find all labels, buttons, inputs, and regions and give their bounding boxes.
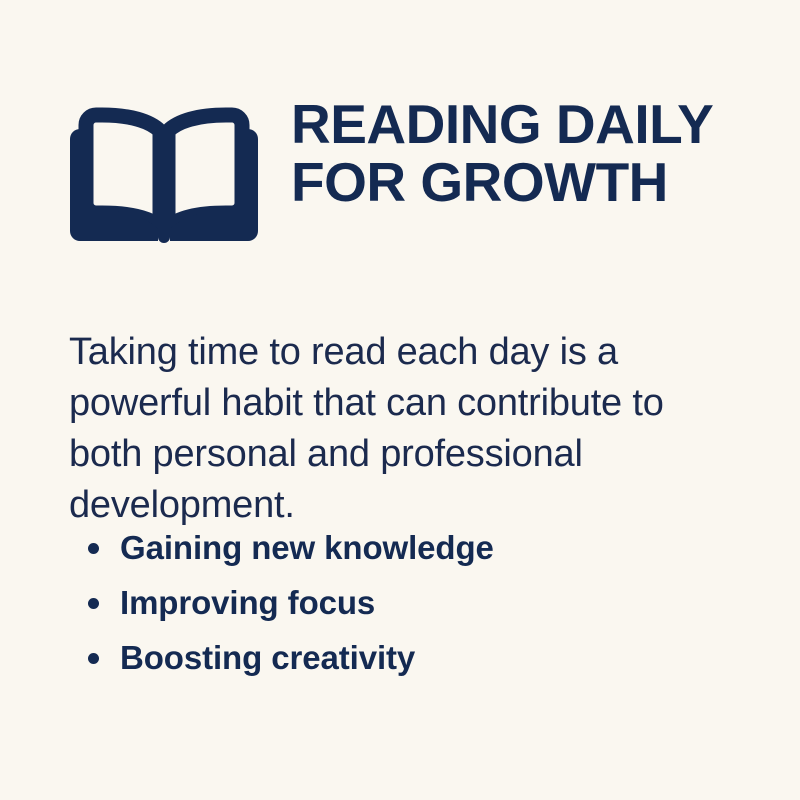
title-line-1: READING DAILY <box>291 95 791 153</box>
list-item-label: Boosting creativity <box>120 630 415 685</box>
header: READING DAILY FOR GROWTH <box>0 95 800 260</box>
list-item-label: Gaining new knowledge <box>120 520 494 575</box>
benefits-list: Gaining new knowledge Improving focus Bo… <box>69 520 729 685</box>
page-title: READING DAILY FOR GROWTH <box>291 95 791 211</box>
bullet-dot-icon <box>88 653 99 664</box>
title-line-2: FOR GROWTH <box>291 153 791 211</box>
list-item-label: Improving focus <box>120 575 375 630</box>
bullet-dot-icon <box>88 543 99 554</box>
list-item: Boosting creativity <box>69 630 729 685</box>
bullet-dot-icon <box>88 598 99 609</box>
open-book-icon <box>66 105 262 255</box>
poster-canvas: READING DAILY FOR GROWTH Taking time to … <box>0 0 800 800</box>
list-item: Gaining new knowledge <box>69 520 729 575</box>
intro-paragraph: Taking time to read each day is a powerf… <box>69 327 709 531</box>
list-item: Improving focus <box>69 575 729 630</box>
